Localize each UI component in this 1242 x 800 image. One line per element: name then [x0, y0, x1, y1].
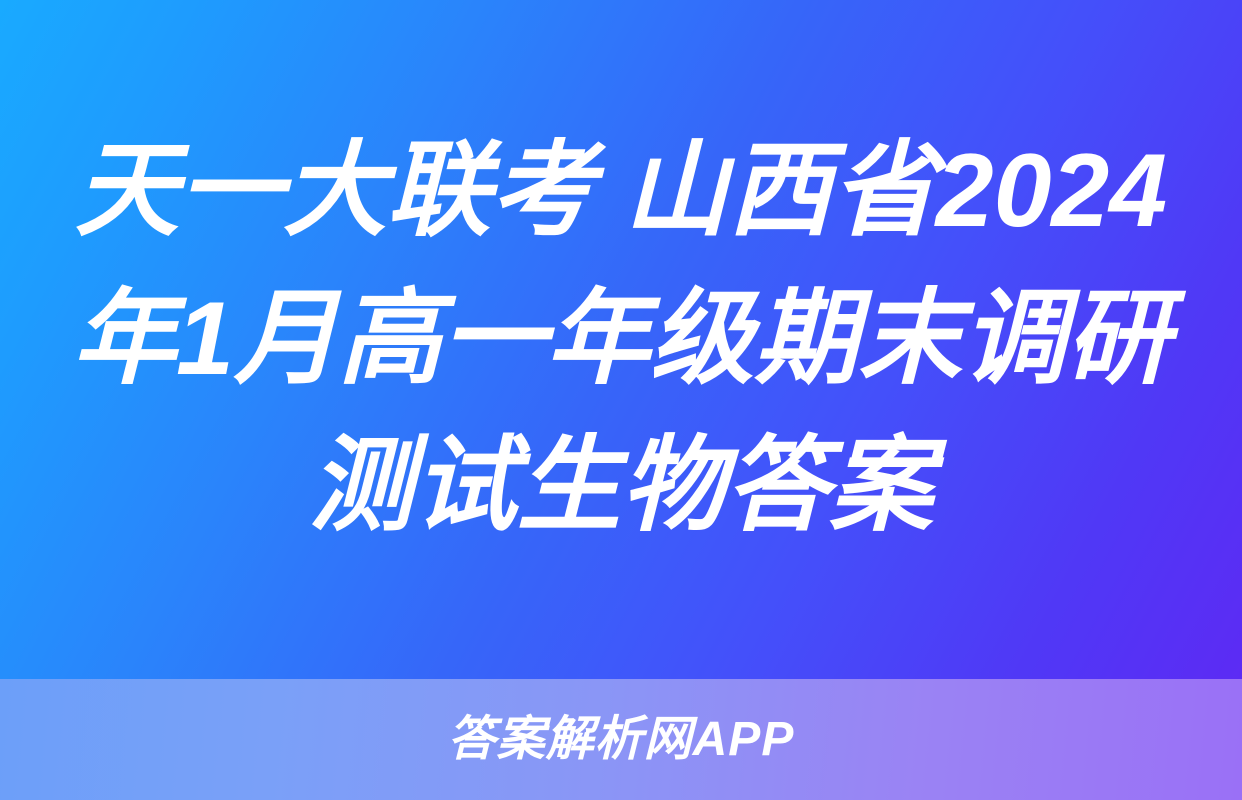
page-title: 天一大联考 山西省2024 年1月高一年级期末调研 测试生物答案: [61, 118, 1181, 561]
app-watermark-label: 答案解析网APP: [448, 716, 795, 764]
poster-page: 天一大联考 山西省2024 年1月高一年级期末调研 测试生物答案 答案解析网AP…: [0, 0, 1242, 800]
hero-gradient-banner: 天一大联考 山西省2024 年1月高一年级期末调研 测试生物答案: [0, 0, 1242, 679]
app-watermark-strip: 答案解析网APP: [0, 679, 1242, 800]
